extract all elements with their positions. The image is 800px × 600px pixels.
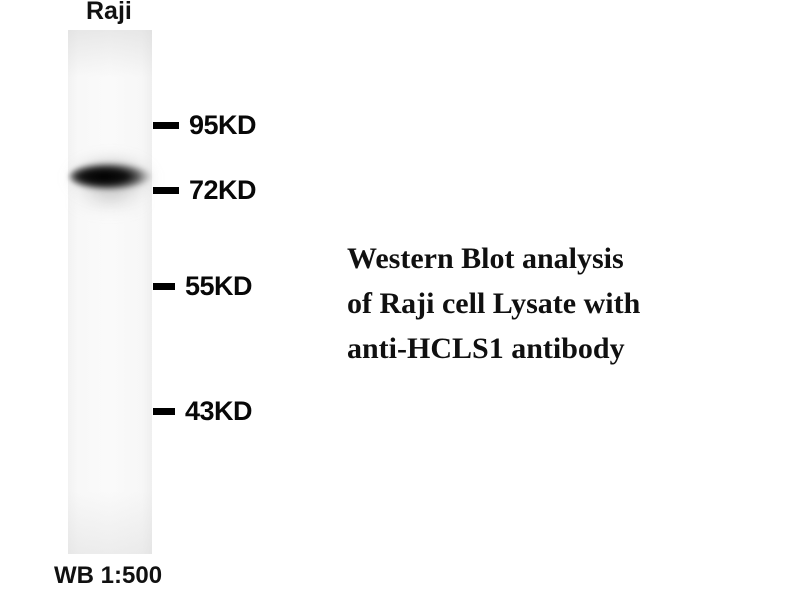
marker-tick-icon <box>153 187 179 194</box>
caption-line-3: anti-HCLS1 antibody <box>347 326 767 371</box>
lane-label-raji: Raji <box>86 0 132 26</box>
dilution-label: WB 1:500 <box>54 562 162 590</box>
marker-55kd: 55KD <box>153 271 252 301</box>
marker-label: 95KD <box>189 110 256 141</box>
marker-label: 43KD <box>185 396 252 427</box>
western-blot-figure: Raji 95KD 72KD 55KD 43KD WB 1:500 Wester… <box>0 0 800 600</box>
marker-tick-icon <box>153 283 175 290</box>
marker-tick-icon <box>153 122 179 129</box>
marker-43kd: 43KD <box>153 396 252 426</box>
gel-lane-raji <box>68 30 152 554</box>
caption-line-2: of Raji cell Lysate with <box>347 281 767 326</box>
marker-label: 72KD <box>189 175 256 206</box>
figure-caption: Western Blot analysis of Raji cell Lysat… <box>347 236 767 371</box>
marker-72kd: 72KD <box>153 175 256 205</box>
marker-label: 55KD <box>185 271 252 302</box>
marker-95kd: 95KD <box>153 110 256 140</box>
marker-tick-icon <box>153 408 175 415</box>
caption-line-1: Western Blot analysis <box>347 236 767 281</box>
